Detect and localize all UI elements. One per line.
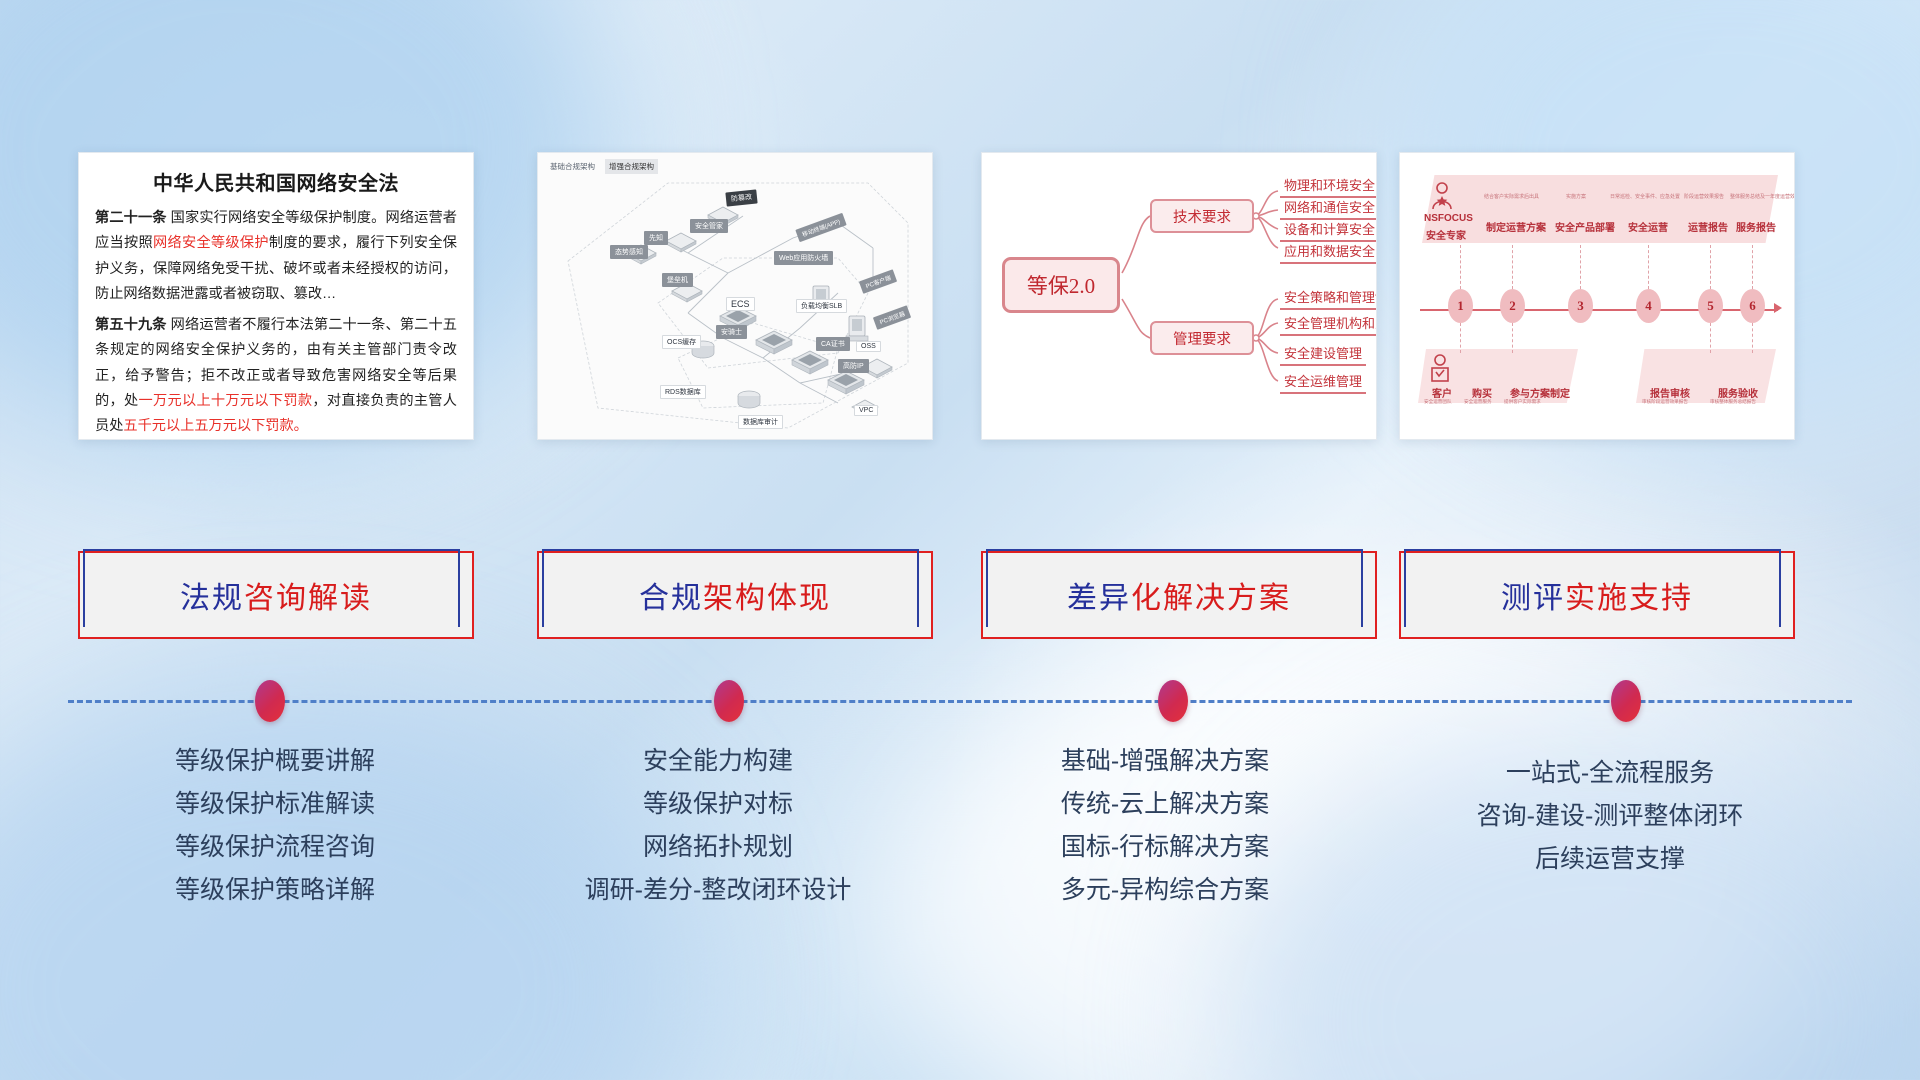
plate-label-a: 法规 [180,582,244,615]
mindmap-branch-technical: 技术要求 [1150,199,1254,233]
timeline-node: 1 [1448,289,1473,323]
mindmap-canvas: 等保2.0 技术要求 管理要求 物理和环境安全 网络和通信安全 设备和计算安全 … [982,153,1376,439]
plate-label-b: 实施支持 [1565,582,1693,615]
database-icon [734,389,764,411]
rail-dot [714,680,744,722]
bullet-line: 一站式-全流程服务 [1400,752,1820,795]
server-icon [790,349,830,377]
title-plate-row: 法规咨询解读 合规架构体现 差异化解决方案 测评实施支持 [0,551,1920,643]
timeline-actor-top-sub: 安全专家 [1426,227,1466,242]
bullet-line: 国标-行标解决方案 [955,826,1375,869]
law-article-21: 第二十一条 国家实行网络安全等级保护制度。网络运营者应当按照网络安全等级保护制度… [95,206,457,307]
card-mindmap: 等保2.0 技术要求 管理要求 物理和环境安全 网络和通信安全 设备和计算安全 … [981,152,1377,440]
plate-label-b: 咨询解读 [244,582,372,615]
timeline-rail [68,700,1852,703]
mindmap-root: 等保2.0 [1002,257,1120,313]
timeline-dash [1460,323,1461,353]
timeline-node: 4 [1636,289,1661,323]
bullet-line: 咨询-建设-测评整体闭环 [1400,795,1820,838]
timeline-top-sub: 实施方案 [1566,193,1586,200]
timeline-node: 3 [1568,289,1593,323]
card-law-document: 中华人民共和国网络安全法 第二十一条 国家实行网络安全等级保护制度。网络运营者应… [78,152,474,440]
plate-compliance-architecture[interactable]: 合规架构体现 [537,551,933,639]
plate-label: 合规架构体现 [639,573,831,617]
node-label: 数据库审计 [738,415,783,429]
bullet-line: 多元-异构综合方案 [955,869,1375,912]
timeline-top-label: 安全产品部署 [1555,219,1615,234]
bullet-line: 基础-增强解决方案 [955,740,1375,783]
card-row: 中华人民共和国网络安全法 第二十一条 国家实行网络安全等级保护制度。网络运营者应… [0,152,1920,452]
server-icon [754,329,794,357]
node-label: 高防IP [838,359,869,373]
plate-label-a: 测评 [1501,582,1565,615]
timeline-actor-top: NSFOCUS [1424,213,1473,224]
device-icon [664,231,698,253]
timeline-bottom-label: 服务验收 [1718,385,1758,400]
timeline-bottom-label: 参与方案制定 [1510,385,1570,400]
bullet-column-evaluation: 一站式-全流程服务 咨询-建设-测评整体闭环 后续运营支撑 [1400,740,1820,881]
timeline-node: 5 [1698,289,1723,323]
timeline-actor-bottom-sub: 安全运营团队 [1424,399,1452,405]
bullet-line: 等级保护概要讲解 [65,740,485,783]
timeline-dash [1580,245,1581,289]
article-59-highlight-1: 一万元以上十万元以下罚款 [138,393,312,409]
article-21-highlight: 网络安全等级保护 [153,235,269,251]
timeline-bottom-sub: 提供客户实际需求 [1504,399,1541,405]
timeline-top-label: 安全运营 [1628,219,1668,234]
node-label: RDS数据库 [660,385,706,399]
law-body: 中华人民共和国网络安全法 第二十一条 国家实行网络安全等级保护制度。网络运营者应… [79,153,473,440]
bullet-line: 安全能力构建 [508,740,928,783]
article-59-highlight-2: 五千元以上五万元以下罚款。 [123,418,307,434]
timeline-arrow-icon [1774,303,1782,313]
bullet-column-solution: 基础-增强解决方案 传统-云上解决方案 国标-行标解决方案 多元-异构综合方案 [955,740,1375,912]
card-service-timeline: NSFOCUS 安全专家 客户 安全运营团队 结合客户实际需求后出具 制定运营方… [1399,152,1795,440]
timeline-dash [1512,245,1513,289]
timeline-dash [1460,245,1461,289]
node-label: 态势感知 [610,245,648,259]
timeline-canvas: NSFOCUS 安全专家 客户 安全运营团队 结合客户实际需求后出具 制定运营方… [1400,153,1794,439]
node-label: CA证书 [816,337,850,351]
mindmap-branch-management: 管理要求 [1150,321,1254,355]
timeline-top-sub: 整体服务总结及一年度运营效果 [1730,193,1795,200]
plate-label: 差异化解决方案 [1067,573,1291,617]
timeline-top-label: 运营报告 [1688,219,1728,234]
timeline-bottom-sub: 安全运营服务 [1464,399,1492,405]
plate-legal-consulting[interactable]: 法规咨询解读 [78,551,474,639]
bullet-column-legal: 等级保护概要讲解 等级保护标准解读 等级保护流程咨询 等级保护策略详解 [65,740,485,912]
mindmap-leaf: 安全策略和管理制度 [1280,287,1377,310]
node-label: 安全管家 [690,219,728,233]
timeline-top-sub: 阶段运营效果报告 [1684,193,1724,200]
timeline-actor-bottom: 客户 [1432,385,1452,400]
rail-dot [1158,680,1188,722]
timeline-node: 2 [1500,289,1525,323]
timeline-top-label: 服务报告 [1736,219,1776,234]
node-label: OCS缓存 [662,335,701,349]
timeline-axis [1420,309,1778,311]
law-article-59: 第五十九条 网络运营者不履行本法第二十一条、第二十五条规定的网络安全保护义务的，… [95,313,457,439]
timeline-dash [1710,323,1711,353]
article-21-label: 第二十一条 [95,210,167,226]
node-label: 堡垒机 [662,273,693,287]
mindmap-leaf: 设备和计算安全 [1280,219,1377,242]
mindmap-leaf: 应用和数据安全 [1280,241,1377,264]
timeline-top-sub: 结合客户实际需求后出具 [1484,193,1539,200]
mindmap-leaf: 物理和环境安全 [1280,175,1377,198]
bullet-line: 后续运营支撑 [1400,838,1820,881]
node-label: 安骑士 [716,325,747,339]
rail-dot [1611,680,1641,722]
article-59-label: 第五十九条 [95,317,167,333]
plate-label-b: 架构体现 [703,582,831,615]
plate-label: 法规咨询解读 [180,573,372,617]
timeline-bottom-sub: 审核阶段运营效果报告 [1642,399,1688,405]
node-label: OSS [856,341,881,352]
mindmap-leaf: 安全建设管理 [1280,343,1366,366]
rail-dot [255,680,285,722]
bullet-line: 传统-云上解决方案 [955,783,1375,826]
bullet-line: 等级保护标准解读 [65,783,485,826]
mindmap-leaf: 网络和通信安全 [1280,197,1377,220]
poster-canvas: 中华人民共和国网络安全法 第二十一条 国家实行网络安全等级保护制度。网络运营者应… [0,0,1920,1080]
card-architecture-diagram: 基础合规架构 增强合规架构 [537,152,933,440]
node-label: ECS [726,297,755,311]
node-label: VPC [854,405,878,416]
timeline-top-sub: 日常巡检、安全事件、应急处置 [1610,193,1680,200]
timeline-dash [1752,323,1753,353]
timeline-top-label: 制定运营方案 [1486,219,1546,234]
bullet-line: 调研-差分-整改闭环设计 [508,869,928,912]
node-label: 负载均衡SLB [796,299,847,313]
timeline-dash [1512,323,1513,353]
bullet-line: 网络拓扑规划 [508,826,928,869]
bullet-line: 等级保护对标 [508,783,928,826]
plate-label: 测评实施支持 [1501,573,1693,617]
timeline-node: 6 [1740,289,1765,323]
plate-label-a: 合规 [639,582,703,615]
timeline-bottom-sub: 审核整体服务总结报告 [1710,399,1756,405]
timeline-bottom-label: 报告审核 [1650,385,1690,400]
bullet-line: 等级保护流程咨询 [65,826,485,869]
architecture-canvas: 基础合规架构 增强合规架构 [538,153,932,439]
plate-label-a: 差异 [1067,582,1131,615]
expert-person-icon [1430,181,1454,211]
node-label: 先知 [644,231,668,245]
timeline-dash [1648,245,1649,289]
bullet-line: 等级保护策略详解 [65,869,485,912]
mindmap-leaf: 安全管理机构和人员 [1280,313,1377,336]
bullet-column-architecture: 安全能力构建 等级保护对标 网络拓扑规划 调研-差分-整改闭环设计 [508,740,928,912]
node-label: Web应用防火墙 [774,251,833,265]
plate-label-b: 化解决方案 [1131,582,1291,615]
plate-differentiated-solution[interactable]: 差异化解决方案 [981,551,1377,639]
mindmap-leaf: 安全运维管理 [1280,371,1366,394]
customer-person-icon [1428,353,1452,383]
timeline-dash [1710,245,1711,289]
timeline-dash [1752,245,1753,289]
law-title: 中华人民共和国网络安全法 [95,167,457,196]
timeline-bottom-label: 购买 [1472,385,1492,400]
plate-evaluation-support[interactable]: 测评实施支持 [1399,551,1795,639]
